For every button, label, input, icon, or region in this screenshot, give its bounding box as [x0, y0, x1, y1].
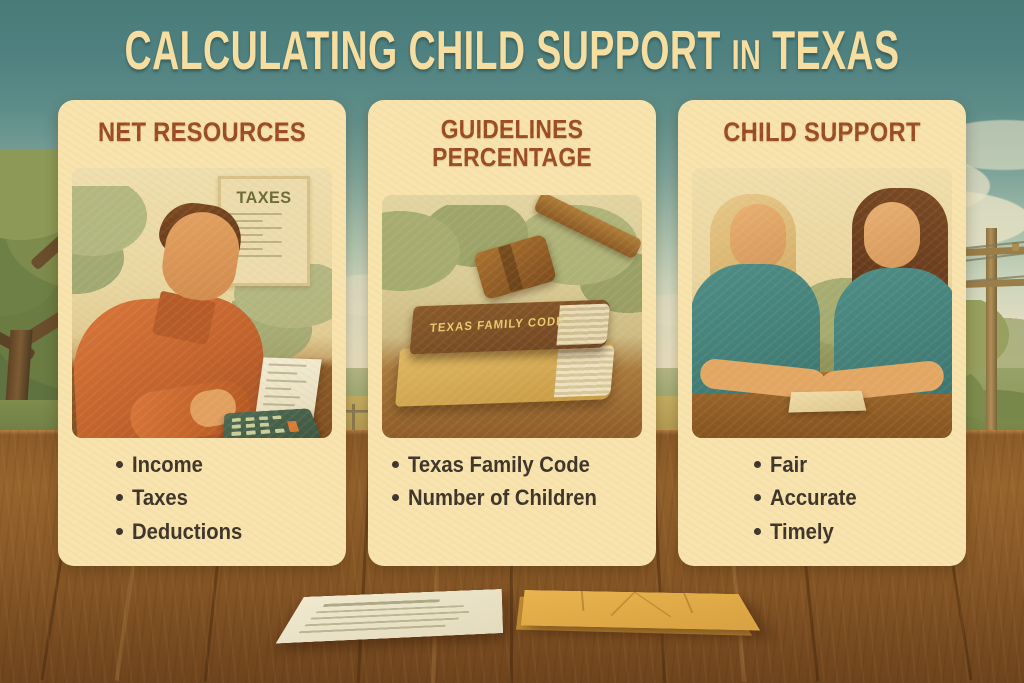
- list-item: Taxes: [116, 481, 346, 514]
- bullet-label: Taxes: [132, 484, 188, 511]
- foliage: [72, 186, 154, 306]
- bullet-list-child-support: Fair Accurate Timely: [678, 448, 966, 548]
- bullet-dot-icon: [392, 494, 399, 501]
- bullet-dot-icon: [116, 494, 123, 501]
- card-title-net-resources: NET RESOURCES: [75, 100, 328, 147]
- bullet-label: Fair: [770, 451, 807, 478]
- book-pages: [554, 345, 615, 397]
- bullet-label: Income: [132, 451, 203, 478]
- list-item: Texas Family Code: [392, 448, 656, 481]
- bullet-label: Timely: [770, 518, 834, 545]
- list-item: Accurate: [754, 481, 966, 514]
- bullet-list-net-resources: Income Taxes Deductions: [58, 448, 346, 548]
- woman-left-head: [730, 204, 786, 270]
- exchanged-document: [788, 391, 866, 413]
- list-item: Deductions: [116, 515, 346, 548]
- bullet-label: Number of Children: [408, 484, 597, 511]
- woman-right-head: [864, 202, 920, 268]
- card-title-guidelines-percentage: GUIDELINES PERCENTAGE: [385, 100, 638, 171]
- list-item: Number of Children: [392, 481, 656, 514]
- bullet-dot-icon: [754, 494, 761, 501]
- book-spine-label: TEXAS FAMILY CODF: [429, 314, 558, 335]
- page-title-main: CALCULATING CHILD SUPPORT: [125, 19, 721, 80]
- card-child-support[interactable]: CHILD SUPPORT Fair Accurate Timely: [678, 100, 966, 566]
- card-title-line-1: GUIDELINES: [385, 115, 638, 143]
- page-title-tail: TEXAS: [772, 19, 899, 80]
- card-net-resources[interactable]: NET RESOURCES TAXES: [58, 100, 346, 566]
- calculator-icon: [222, 408, 322, 438]
- book-pages: [556, 304, 610, 346]
- infographic-poster: CALCULATING CHILD SUPPORT IN TEXAS NET R…: [0, 0, 1024, 683]
- card-title-child-support: CHILD SUPPORT: [695, 100, 948, 147]
- page-title: CALCULATING CHILD SUPPORT IN TEXAS: [102, 18, 921, 82]
- bullet-label: Deductions: [132, 518, 242, 545]
- bullet-dot-icon: [116, 528, 123, 535]
- list-item: Fair: [754, 448, 966, 481]
- illustration-two-women-exchanging-document: [692, 168, 952, 438]
- envelope-flap: [581, 591, 694, 613]
- list-item: Timely: [754, 515, 966, 548]
- list-item: Income: [116, 448, 346, 481]
- bullet-label: Accurate: [770, 484, 857, 511]
- page-title-connector: IN: [732, 31, 762, 79]
- taxes-form-label: TAXES: [223, 188, 305, 208]
- bullet-label: Texas Family Code: [408, 451, 590, 478]
- bullet-dot-icon: [754, 461, 761, 468]
- card-title-line-2: PERCENTAGE: [385, 143, 638, 171]
- illustration-gavel-on-law-books: TEXAS FAMILY CODF: [382, 195, 642, 438]
- card-guidelines-percentage[interactable]: GUIDELINES PERCENTAGE TEXAS FAMILY CODF …: [368, 100, 656, 566]
- bullet-dot-icon: [116, 461, 123, 468]
- bullet-dot-icon: [754, 528, 761, 535]
- law-book-top: TEXAS FAMILY CODF: [410, 300, 611, 355]
- envelope: [521, 590, 760, 630]
- bullet-list-guidelines-percentage: Texas Family Code Number of Children: [368, 448, 656, 515]
- bullet-dot-icon: [392, 461, 399, 468]
- illustration-man-reviewing-taxes: TAXES: [72, 168, 332, 438]
